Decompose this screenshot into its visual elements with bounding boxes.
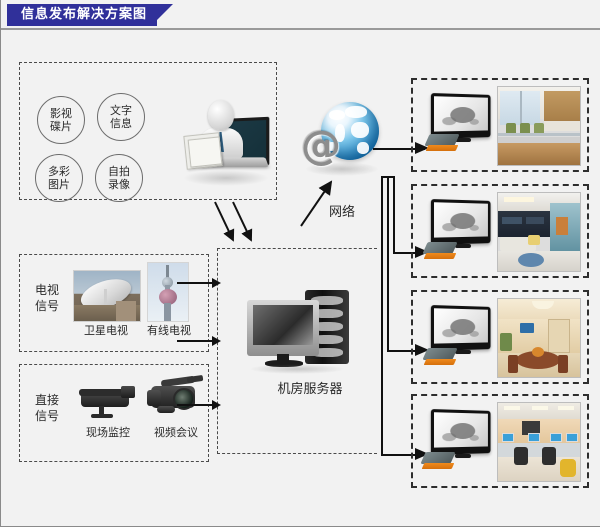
arrow-server-to-network [297, 176, 343, 230]
person-with-laptop-icon [177, 92, 273, 190]
direct-signal-label-line1: 直接 [35, 393, 59, 407]
server-computer-icon [241, 288, 353, 372]
page-title: 信息发布解决方案图 [21, 4, 147, 26]
site-surveillance-caption: 现场监控 [73, 424, 143, 440]
bubble-line2: 碟片 [50, 120, 72, 133]
cctv-camera-icon [77, 378, 139, 420]
endpoint-panel-1 [411, 78, 589, 172]
satellite-tv-caption: 卫星电视 [73, 322, 139, 338]
endpoint-panel-3 [411, 290, 589, 384]
tv-signal-label-line1: 电视 [35, 283, 59, 297]
bubble-line2: 录像 [108, 178, 130, 191]
header-divider [1, 28, 600, 30]
flat-tv-icon [431, 199, 491, 245]
bubble-line1: 多彩 [48, 165, 70, 178]
direct-signal-label: 直接 信号 [27, 392, 67, 424]
title-banner: 信息发布解决方案图 [7, 4, 157, 26]
endpoint-panel-2 [411, 184, 589, 278]
satellite-dish-photo [73, 270, 141, 322]
arrow-tv-signal-to-server-2 [177, 340, 213, 342]
arrow-tv-signal-to-server [177, 282, 213, 284]
bus-vertical-1 [381, 176, 383, 456]
bubble-line2: 信息 [110, 117, 132, 130]
camcorder-icon [143, 374, 205, 420]
kitchen-dining-room-photo [497, 86, 581, 166]
tv-signal-label-line2: 信号 [35, 299, 59, 313]
bubble-line1: 文字 [110, 104, 132, 117]
flat-tv-icon [431, 305, 491, 351]
set-top-box-icon [421, 452, 455, 472]
at-symbol: @ [301, 126, 341, 166]
set-top-box-icon [423, 348, 457, 368]
arrow-content-to-server-group [207, 196, 267, 252]
set-top-box-icon [425, 134, 459, 154]
modern-living-room-photo [497, 192, 581, 272]
bus-vertical-2 [387, 176, 389, 352]
flat-tv-icon [431, 409, 491, 455]
direct-signal-label-line2: 信号 [35, 409, 59, 423]
arrow-direct-signal-to-server [177, 404, 213, 406]
bus-vertical-3 [393, 176, 395, 254]
cable-tv-caption: 有线电视 [141, 322, 197, 338]
endpoint-panel-4 [411, 394, 589, 488]
server-label: 机房服务器 [255, 382, 365, 397]
bus-top-connector [381, 176, 395, 178]
bubble-selfie-recording: 自拍 录像 [95, 154, 143, 202]
flat-tv-icon [431, 93, 491, 139]
bubble-line1: 自拍 [108, 165, 130, 178]
diagram-page: 信息发布解决方案图 影视 碟片 文字 信息 多彩 图片 自拍 录像 电视 信号 [0, 0, 600, 527]
office-workstations-photo [497, 402, 581, 482]
tv-signal-label: 电视 信号 [27, 282, 67, 314]
bubble-colorful-pictures: 多彩 图片 [35, 154, 83, 202]
bubble-text-info: 文字 信息 [97, 93, 145, 141]
tv-tower-photo [147, 262, 189, 322]
globe-at-icon: @ [297, 96, 383, 182]
warm-dining-room-photo [497, 298, 581, 378]
bubble-line2: 图片 [48, 178, 70, 191]
set-top-box-icon [423, 242, 457, 262]
bubble-line1: 影视 [50, 107, 72, 120]
video-conference-caption: 视频会议 [141, 424, 211, 440]
bubble-video-disc: 影视 碟片 [37, 96, 85, 144]
